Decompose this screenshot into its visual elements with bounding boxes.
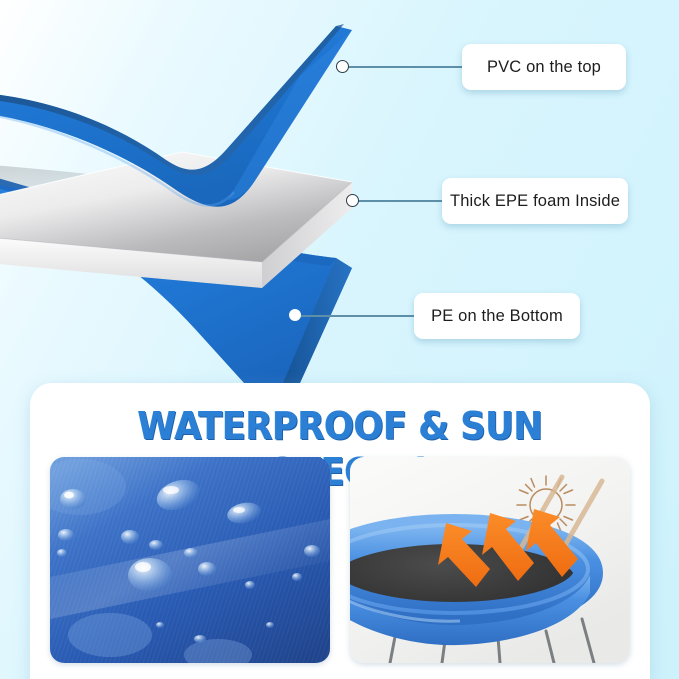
product-infographic: PVC on the top Thick EPE foam Inside PE … <box>0 0 679 679</box>
callout-thick-epe-foam-inside: Thick EPE foam Inside <box>442 178 628 224</box>
marker-pvc <box>336 60 349 73</box>
waterproof-photo <box>50 457 330 663</box>
marker-pe <box>289 309 301 321</box>
layer-diagram: PVC on the top Thick EPE foam Inside PE … <box>0 0 679 383</box>
marker-epe <box>346 194 359 207</box>
leader-line-pe <box>298 315 416 317</box>
callout-pvc-on-the-top: PVC on the top <box>462 44 626 90</box>
feature-card: WATERPROOF & SUN PROTECTION <box>30 383 650 679</box>
callout-pvc-label: PVC on the top <box>487 58 601 77</box>
callout-pe-on-the-bottom: PE on the Bottom <box>414 293 580 339</box>
leader-line-epe <box>358 200 444 202</box>
leader-line-pvc <box>348 66 464 68</box>
sun-protection-photo-art <box>350 457 630 663</box>
callout-pe-label: PE on the Bottom <box>431 307 563 326</box>
waterproof-photo-art <box>50 457 330 663</box>
sun-protection-photo <box>350 457 630 663</box>
callout-epe-label: Thick EPE foam Inside <box>450 192 620 211</box>
